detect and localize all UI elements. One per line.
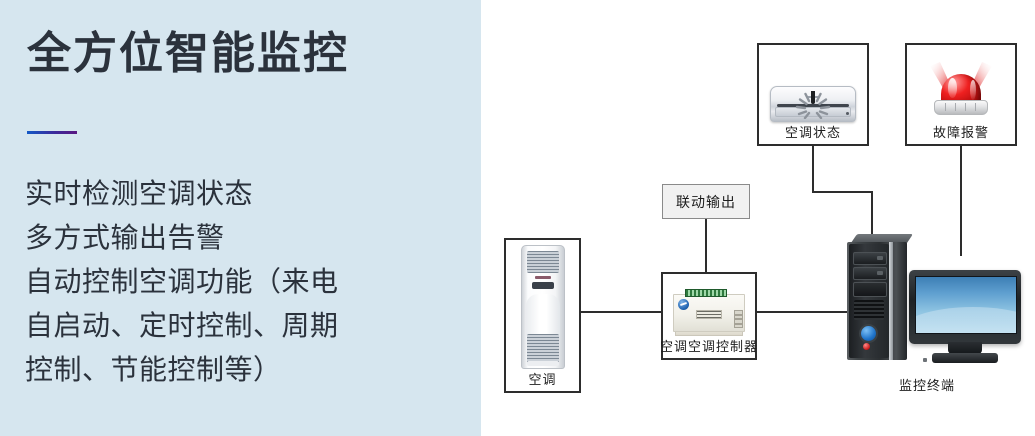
feature-line: 多方式输出告警 [25,216,465,260]
node-label: 空调 [528,369,556,391]
node-label-monitoring-terminal: 监控终端 [899,375,955,394]
title-divider [27,131,77,134]
alarm-siren-icon [918,60,1004,122]
promo-banner: 全方位智能监控 实时检测空调状态 多方式输出告警 自动控制空调功能（来电 自启动… [0,0,1035,436]
feature-line: 自启动、定时控制、周期 [25,304,465,348]
floor-standing-air-conditioner-icon [521,245,565,369]
node-linkage-output[interactable]: 联动输出 [662,184,750,219]
node-ac-status[interactable]: 空调状态 [757,43,869,146]
controller-device-icon [671,288,747,336]
siren-base [934,100,988,115]
wire-linkage-to-controller [705,219,707,272]
wire-ac-status-across [812,191,873,193]
node-fault-alarm[interactable]: 故障报警 [905,43,1017,146]
system-topology-diagram: 空调状态 [481,0,1035,436]
left-info-panel: 全方位智能监控 实时检测空调状态 多方式输出告警 自动控制空调功能（来电 自启动… [0,0,481,436]
wire-ac-status-down [812,146,814,193]
feature-description: 实时检测空调状态 多方式输出告警 自动控制空调功能（来电 自启动、定时控制、周期… [25,172,465,392]
node-label: 联动输出 [676,192,736,212]
desktop-computer-icon[interactable] [843,232,1023,367]
feature-line: 控制、节能控制等） [25,348,465,392]
airflow-icon [793,91,833,119]
wire-ac-to-controller [581,311,661,313]
page-title: 全方位智能监控 [27,30,349,78]
reset-button-icon [863,343,870,350]
feature-line: 实时检测空调状态 [25,172,465,216]
node-label: 空调空调控制器 [660,336,758,358]
monitor-icon [909,270,1021,366]
pc-tower-icon [847,242,907,360]
node-controller[interactable]: 空调空调控制器 [661,272,757,360]
node-label: 空调状态 [785,122,841,144]
node-air-conditioner[interactable]: 空调 [504,238,581,393]
power-button-icon [859,324,878,343]
node-label: 故障报警 [933,122,989,144]
feature-line: 自动控制空调功能（来电 [25,260,465,304]
